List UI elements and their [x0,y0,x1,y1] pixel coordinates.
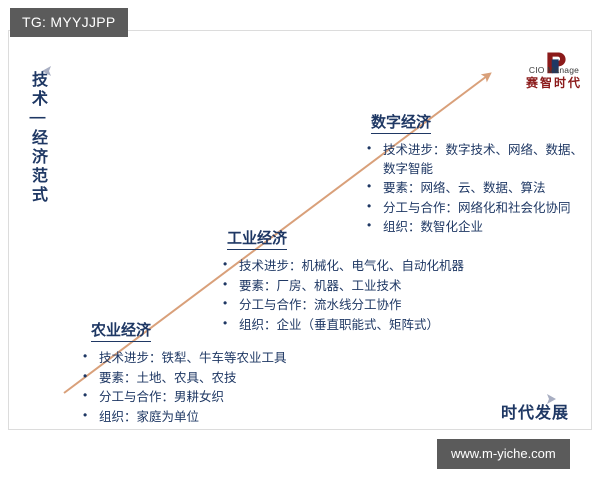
x-axis-label: 时代发展 [501,399,569,423]
era-bullet-list-industry: 技术进步：机械化、电气化、自动化机器 要素：厂房、机器、工业技术 分工与合作：流… [221,257,471,334]
logo-english-text: CIO Manage [517,66,591,75]
era-bullet: 技术进步：数字技术、网络、数据、数字智能 [365,141,585,178]
brand-logo: CIO Manage 赛智时代 [517,49,591,89]
era-title-industry: 工业经济 [227,227,287,250]
watermark-label: www.m-yiche.com [437,439,570,469]
y-axis-label: 技术—经济范式 [19,71,45,205]
era-title-digital: 数字经济 [371,111,431,134]
era-bullet-list-agriculture: 技术进步：铁犁、牛车等农业工具 要素：土地、农具、农技 分工与合作：男耕女织 组… [81,349,351,426]
era-bullet: 分工与合作：网络化和社会化协同 [365,199,585,218]
era-bullet: 组织：数智化企业 [365,218,585,237]
logo-chinese-text: 赛智时代 [517,77,591,89]
era-block-digital: 数字经济 技术进步：数字技术、网络、数据、数字智能 要素：网络、云、数据、算法 … [365,111,585,238]
era-bullet: 要素：网络、云、数据、算法 [365,179,585,198]
tg-badge: TG: MYYJJPP [10,8,128,37]
era-bullet: 技术进步：铁犁、牛车等农业工具 [81,349,351,368]
era-bullet: 组织：企业（垂直职能式、矩阵式） [221,316,471,335]
era-bullet: 组织：家庭为单位 [81,408,351,427]
era-bullet-list-digital: 技术进步：数字技术、网络、数据、数字智能 要素：网络、云、数据、算法 分工与合作… [365,141,585,237]
era-bullet: 分工与合作：流水线分工协作 [221,296,471,315]
era-bullet: 要素：厂房、机器、工业技术 [221,277,471,296]
era-block-industry: 工业经济 技术进步：机械化、电气化、自动化机器 要素：厂房、机器、工业技术 分工… [221,227,471,335]
era-bullet: 要素：土地、农具、农技 [81,369,351,388]
era-bullet: 技术进步：机械化、电气化、自动化机器 [221,257,471,276]
era-title-agriculture: 农业经济 [91,319,151,342]
slide-canvas: 技术—经济范式 时代发展 农业经济 技术进步：铁犁、牛车等农业工具 要素：土地、… [8,30,592,430]
era-bullet: 分工与合作：男耕女织 [81,388,351,407]
era-block-agriculture: 农业经济 技术进步：铁犁、牛车等农业工具 要素：土地、农具、农技 分工与合作：男… [81,319,351,427]
